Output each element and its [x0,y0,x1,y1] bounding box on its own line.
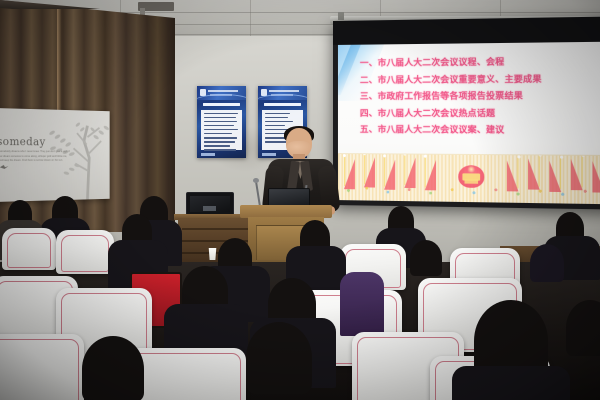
institutional-poster-left [197,86,246,158]
attendee-body [452,366,570,400]
national-emblem-icon [458,162,484,189]
audience-chair[interactable] [2,228,56,270]
slide-line-1: 一、市八届人大二次会议议程、会程 [360,52,600,71]
attendee-body [340,272,384,336]
audience-chair[interactable] [56,230,114,274]
slide-line-2: 二、市八届人大二次会议重要意义、主要成果 [360,70,600,88]
attendee-head [566,300,600,356]
someday-poster: someday Somebody dreams who I never knew… [0,108,110,202]
slide-line-5: 五、市八届人大二次会议议案、建议 [360,121,600,139]
projection-screen: 一、市八届人大二次会议议程、会程 二、市八届人大二次会议重要意义、主要成果 三、… [333,16,600,209]
screen-bracket [338,12,344,20]
presentation-slide: 一、市八届人大二次会议议程、会程 二、市八届人大二次会议重要意义、主要成果 三、… [338,42,600,205]
confetti-decoration [338,185,600,198]
attendee-head [246,322,312,394]
audience-chair[interactable] [128,348,246,400]
audience-chair[interactable] [0,334,84,400]
slide-line-3: 三、市政府工作报告等各项报告投票结果 [360,87,600,105]
someday-poster-title: someday [0,135,46,148]
attendee-head [530,244,564,282]
attendee-head [82,336,144,400]
slide-line-4: 四、市八届人大二次会议热点话题 [360,104,600,121]
someday-poster-subtext: Somebody dreams who I never knew. They j… [0,150,71,164]
slide-agenda-list: 一、市八届人大二次会议议程、会程 二、市八届人大二次会议重要意义、主要成果 三、… [360,52,600,138]
microphone-icon [253,178,259,183]
conference-room-photo: someday Somebody dreams who I never knew… [0,0,600,400]
slide-decorative-band [338,153,600,204]
bird-icon [0,165,8,169]
attendee-head [410,240,442,276]
